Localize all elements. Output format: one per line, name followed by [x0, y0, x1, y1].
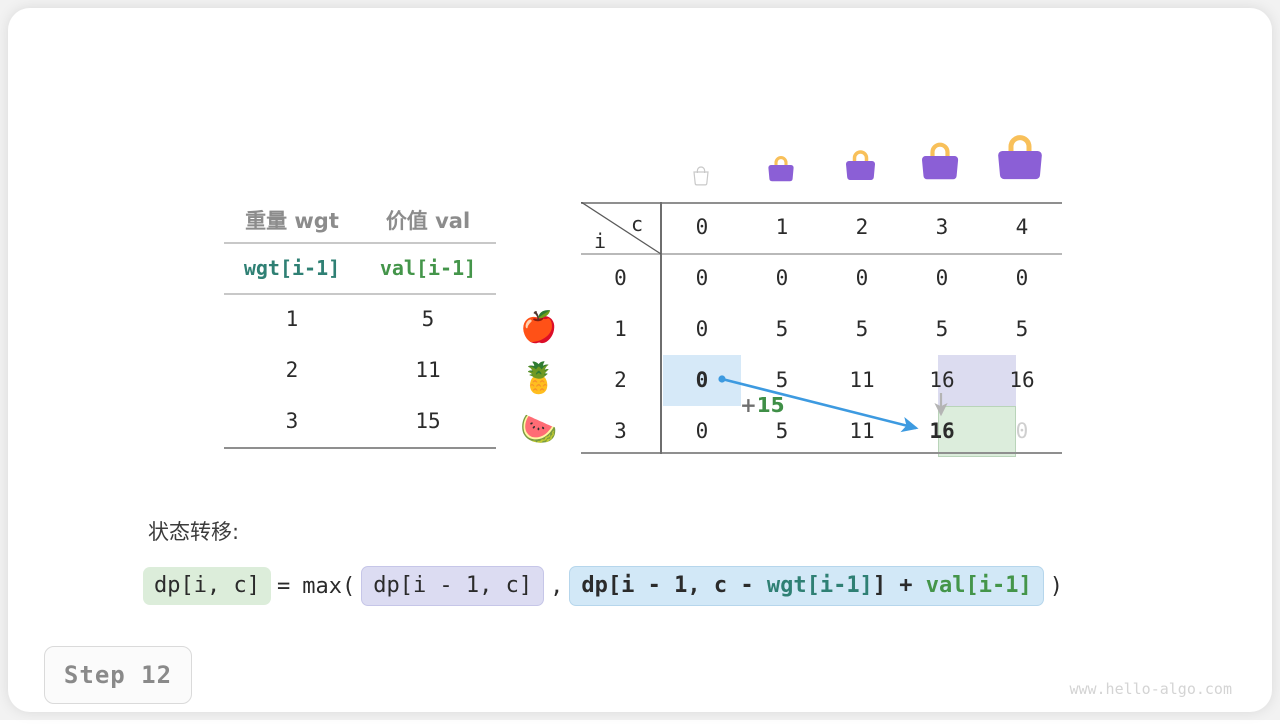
- dp-row-header-1: 1: [581, 317, 660, 341]
- formula-target-box: dp[i, c]: [143, 567, 271, 605]
- dp-line-bottom: [581, 452, 1062, 454]
- dp-cell-2-3: 16: [902, 368, 982, 392]
- formula-close-paren: ): [1044, 574, 1069, 599]
- bag-2-icon: [842, 148, 879, 183]
- dp-cell-0-2: 0: [822, 266, 902, 290]
- state-transition-label: 状态转移:: [148, 516, 239, 546]
- items-row-1-val: 5: [360, 307, 496, 331]
- dp-cell-0-1: 0: [742, 266, 822, 290]
- dp-cell-3-0: 0: [662, 419, 742, 443]
- dp-cell-1-2: 5: [822, 317, 902, 341]
- dp-cell-1-3: 5: [902, 317, 982, 341]
- items-row-2: 2 11: [224, 344, 496, 395]
- formula-take-prefix: dp[i - 1, c -: [581, 573, 766, 598]
- items-header-wgt: 重量 wgt: [224, 205, 360, 235]
- items-subheader-wgt: wgt[i-1]: [224, 256, 360, 280]
- pineapple-icon: 🍍: [508, 353, 570, 404]
- items-row-2-wgt: 2: [224, 358, 360, 382]
- dp-row-header-3: 3: [581, 419, 660, 443]
- formula-equals: =: [271, 574, 296, 599]
- slide-card: 重量 wgt 价值 val wgt[i-1] val[i-1] 1 5 2 11…: [8, 8, 1272, 712]
- items-table: 重量 wgt 价值 val wgt[i-1] val[i-1] 1 5 2 11…: [224, 198, 496, 446]
- dp-cell-3-1: 5: [742, 419, 822, 443]
- bag-1-icon: [765, 154, 797, 184]
- formula-comma: ,: [544, 574, 569, 599]
- dp-cell-2-1: 5: [742, 368, 822, 392]
- plus-value-annotation: +15: [740, 393, 785, 417]
- fruit-icon-column: 🍎 🍍 🍉: [508, 302, 570, 455]
- dp-col-header-0: 0: [662, 215, 742, 239]
- formula-skip-box: dp[i - 1, c]: [361, 566, 544, 606]
- step-badge: Step 12: [44, 646, 192, 704]
- dp-cell-2-0: 0: [662, 368, 742, 392]
- state-transition-formula: dp[i, c] = max( dp[i - 1, c] , dp[i - 1,…: [143, 566, 1069, 606]
- items-row-2-val: 11: [360, 358, 496, 382]
- watermelon-icon: 🍉: [508, 404, 570, 455]
- dp-cell-0-4: 0: [982, 266, 1062, 290]
- dp-cell-3-4: 0: [982, 419, 1062, 443]
- dp-row-header-2: 2: [581, 368, 660, 392]
- dp-row-axis-label: i: [594, 229, 606, 253]
- items-subheader-row: wgt[i-1] val[i-1]: [224, 242, 496, 293]
- dp-row-header-0: 0: [581, 266, 660, 290]
- items-divider-bottom: [224, 447, 496, 449]
- formula-take-wgt: wgt[i-1]: [767, 573, 873, 598]
- dp-cell-1-1: 5: [742, 317, 822, 341]
- items-row-3: 3 15: [224, 395, 496, 446]
- items-subheader-val: val[i-1]: [360, 256, 496, 280]
- plus-number: 15: [757, 393, 785, 417]
- dp-col-header-2: 2: [822, 215, 902, 239]
- screenshot-canvas: 重量 wgt 价值 val wgt[i-1] val[i-1] 1 5 2 11…: [0, 0, 1280, 720]
- dp-cell-0-0: 0: [662, 266, 742, 290]
- bag-3-icon: [917, 140, 963, 183]
- dp-cell-2-4: 16: [982, 368, 1062, 392]
- dp-cell-2-2: 11: [822, 368, 902, 392]
- apple-icon: 🍎: [508, 302, 570, 353]
- dp-cell-3-2: 11: [822, 419, 902, 443]
- items-row-1-wgt: 1: [224, 307, 360, 331]
- dp-table: c i 0 1 2 3 4 0 1 2 3 0 0 0 0 0 0 5 5 5 …: [581, 202, 1062, 454]
- dp-cell-3-3: 16: [902, 419, 982, 443]
- dp-col-header-1: 1: [742, 215, 822, 239]
- formula-take-val: val[i-1]: [926, 573, 1032, 598]
- items-header-val: 价值 val: [360, 205, 496, 235]
- bag-0-icon: [689, 164, 713, 186]
- dp-cell-0-3: 0: [902, 266, 982, 290]
- items-header-row: 重量 wgt 价值 val: [224, 198, 496, 242]
- dp-cell-1-0: 0: [662, 317, 742, 341]
- formula-max-open: max(: [296, 574, 361, 599]
- items-row-3-val: 15: [360, 409, 496, 433]
- formula-take-box: dp[i - 1, c - wgt[i-1]] + val[i-1]: [569, 566, 1043, 606]
- dp-col-header-4: 4: [982, 215, 1062, 239]
- plus-sign: +: [740, 393, 757, 417]
- dp-col-axis-label: c: [631, 212, 643, 236]
- items-row-1: 1 5: [224, 293, 496, 344]
- formula-take-mid: ] +: [873, 573, 926, 598]
- watermark: www.hello-algo.com: [1069, 680, 1232, 698]
- items-row-3-wgt: 3: [224, 409, 360, 433]
- dp-cell-1-4: 5: [982, 317, 1062, 341]
- dp-col-header-3: 3: [902, 215, 982, 239]
- bag-4-icon: [992, 132, 1048, 184]
